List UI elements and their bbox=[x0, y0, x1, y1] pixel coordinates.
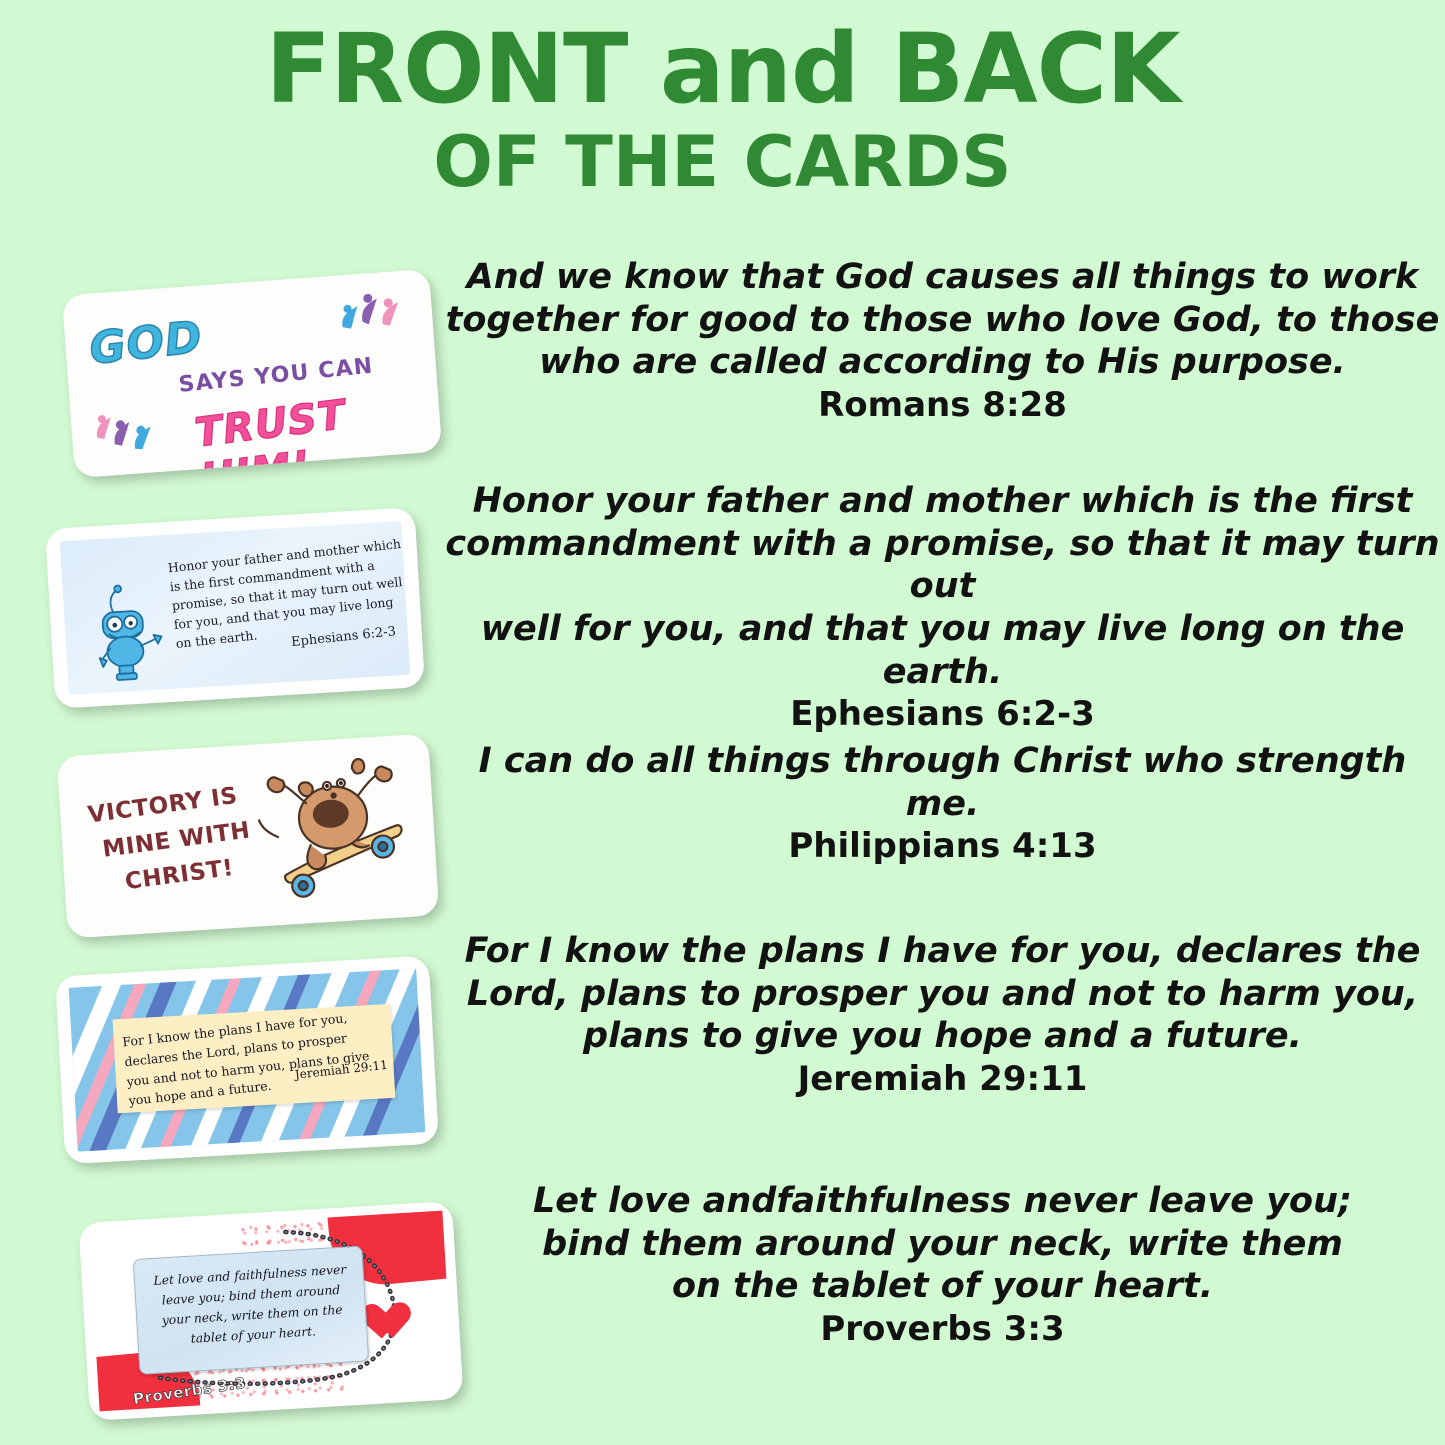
card-victory-christ[interactable]: VICTORY IS MINE WITH CHRIST! bbox=[57, 734, 440, 939]
verse-jeremiah-line-2: Lord, plans to prosper you and not to ha… bbox=[467, 974, 1418, 1014]
verse-list: And we know that God causes all things t… bbox=[440, 240, 1445, 1445]
verse-ephesians-reference: Ephesians 6:2-3 bbox=[440, 693, 1445, 737]
verse-proverbs-line-2: bind them around your neck, write them bbox=[542, 1224, 1343, 1264]
card-trust-him[interactable]: GOD SAYS YOU CAN TRUST HIM! bbox=[62, 269, 442, 478]
verse-ephesians-line-2: commandment with a promise, so that it m… bbox=[445, 524, 1439, 607]
verse-philippians: I can do all things through Christ who s… bbox=[440, 740, 1445, 869]
page-title: FRONT and BACK OF THE CARDS bbox=[0, 18, 1445, 201]
verse-ephesians-line-3: well for you, and that you may live long… bbox=[481, 609, 1405, 692]
heart-icon bbox=[370, 1303, 414, 1343]
robot-icon bbox=[90, 581, 174, 685]
verse-ephesians-line-1: Honor your father and mother which is th… bbox=[473, 481, 1413, 521]
verse-proverbs-line-3: on the tablet of your heart. bbox=[672, 1266, 1213, 1306]
card-proverbs-love[interactable]: Let love and faithfulness never leave yo… bbox=[78, 1201, 463, 1421]
verse-jeremiah-line-1: For I know the plans I have for you, dec… bbox=[465, 931, 1421, 971]
dog-on-skateboard-icon bbox=[251, 751, 420, 911]
card-robot-panel: Honor your father and mother which is th… bbox=[60, 521, 411, 695]
celebrating-figures-icon bbox=[334, 289, 407, 334]
verse-philippians-line-1: I can do all things through Christ who s… bbox=[479, 741, 1407, 824]
card-proverbs-textbox: Let love and faithfulness never leave yo… bbox=[133, 1245, 369, 1374]
card-proverbs-art: Let love and faithfulness never leave yo… bbox=[89, 1211, 453, 1412]
card-gallery: GOD SAYS YOU CAN TRUST HIM! bbox=[0, 240, 470, 1445]
card-ephesians-robot[interactable]: Honor your father and mother which is th… bbox=[45, 507, 425, 709]
card-victory-text: VICTORY IS MINE WITH CHRIST! bbox=[86, 778, 257, 905]
verse-romans-line-3: who are called according to His purpose. bbox=[539, 342, 1346, 382]
verse-romans-line-1: And we know that God causes all things t… bbox=[467, 257, 1419, 297]
card-trust-line1: GOD bbox=[87, 312, 205, 375]
page-title-line1: FRONT and BACK bbox=[0, 18, 1445, 122]
poster-root: FRONT and BACK OF THE CARDS bbox=[0, 0, 1445, 1445]
verse-proverbs: Let love andfaithfulness never leave you… bbox=[440, 1180, 1445, 1352]
page-title-line2: OF THE CARDS bbox=[0, 124, 1445, 201]
verse-jeremiah-line-3: plans to give you hope and a future. bbox=[583, 1016, 1302, 1056]
verse-philippians-reference: Philippians 4:13 bbox=[440, 825, 1445, 869]
card-jeremiah-text: For I know the plans I have for you, dec… bbox=[121, 1006, 378, 1112]
verse-proverbs-line-1: Let love andfaithfulness never leave you… bbox=[533, 1181, 1352, 1221]
verse-jeremiah: For I know the plans I have for you, dec… bbox=[440, 930, 1445, 1102]
card-proverbs-text: Let love and faithfulness never leave yo… bbox=[145, 1260, 357, 1352]
card-jeremiah-plans[interactable]: For I know the plans I have for you, dec… bbox=[55, 956, 439, 1165]
card-jeremiah-paper: For I know the plans I have for you, dec… bbox=[113, 1004, 396, 1113]
verse-ephesians: Honor your father and mother which is th… bbox=[440, 480, 1445, 737]
verse-romans: And we know that God causes all things t… bbox=[440, 256, 1445, 428]
verse-proverbs-reference: Proverbs 3:3 bbox=[440, 1308, 1445, 1352]
card-jeremiah-border: For I know the plans I have for you, dec… bbox=[69, 968, 426, 1151]
verse-romans-line-2: together for good to those who love God,… bbox=[446, 300, 1440, 340]
card-trust-line3: TRUST HIM! bbox=[192, 380, 442, 478]
verse-jeremiah-reference: Jeremiah 29:11 bbox=[440, 1058, 1445, 1102]
verse-romans-reference: Romans 8:28 bbox=[440, 384, 1445, 428]
celebrating-figures-icon-2 bbox=[91, 409, 160, 454]
